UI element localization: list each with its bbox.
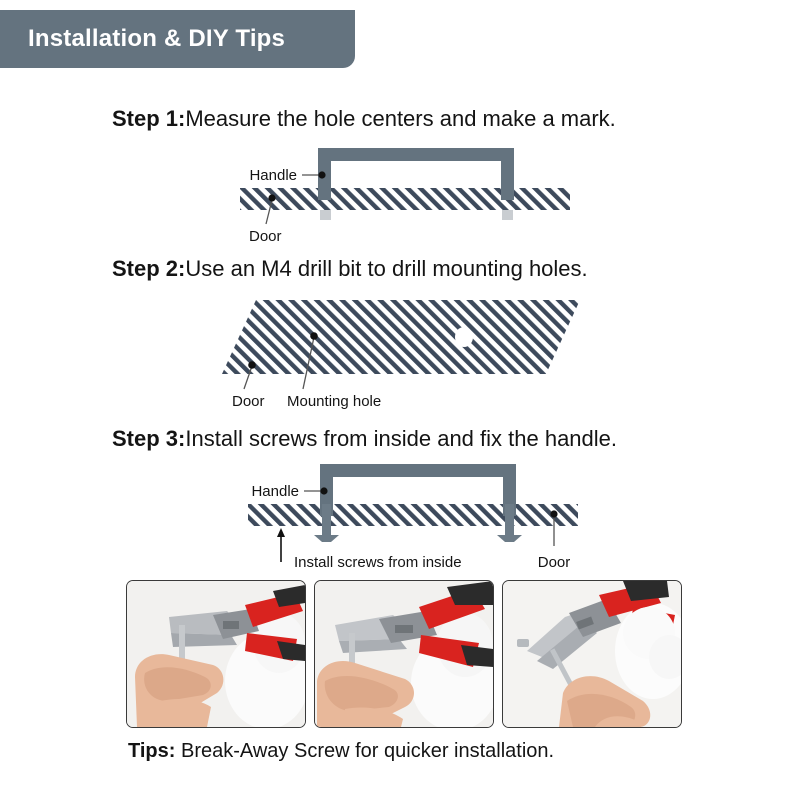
annotation-door: Door xyxy=(249,228,282,245)
step-1-text: Measure the hole centers and make a mark… xyxy=(185,106,615,131)
door-panel-3 xyxy=(248,504,578,526)
step-2-diagram: Mounting hole Door xyxy=(0,292,800,412)
handle-stubs xyxy=(320,210,513,220)
step-1-label: Step 1: xyxy=(112,106,185,131)
step-3-text: Install screws from inside and fix the h… xyxy=(185,426,617,451)
annotation-mounting-hole: Mounting hole xyxy=(287,393,381,410)
door-leader-line-3 xyxy=(550,510,557,546)
step-3-label: Step 3: xyxy=(112,426,185,451)
door-panel xyxy=(240,188,570,210)
photo-step-3[interactable] xyxy=(502,580,682,728)
step-2-heading: Step 2:Use an M4 drill bit to drill moun… xyxy=(112,256,588,282)
step-1-diagram: Handle Door xyxy=(0,140,800,250)
step-3-diagram: Handle Install screws from inside Door xyxy=(0,450,800,570)
tips-line: Tips: Break-Away Screw for quicker insta… xyxy=(128,740,554,763)
handle-leader-line xyxy=(302,171,326,178)
step-3-heading: Step 3:Install screws from inside and fi… xyxy=(112,426,617,452)
step-2-label: Step 2: xyxy=(112,256,185,281)
photo-strip xyxy=(126,580,682,728)
tips-text: Break-Away Screw for quicker installatio… xyxy=(175,740,554,762)
mounting-hole xyxy=(455,327,473,347)
photo-step-1[interactable] xyxy=(126,580,306,728)
step-2-text: Use an M4 drill bit to drill mounting ho… xyxy=(185,256,587,281)
door-panel-angled xyxy=(222,300,580,374)
annotation-handle: Handle xyxy=(249,167,297,184)
install-screws-arrow xyxy=(277,528,285,562)
annotation-install-screws: Install screws from inside xyxy=(294,554,462,570)
header-banner: Installation & DIY Tips xyxy=(0,10,355,68)
handle-leader-line-3 xyxy=(304,487,328,494)
step-1-heading: Step 1:Measure the hole centers and make… xyxy=(112,106,616,132)
annotation-handle-3: Handle xyxy=(251,483,299,500)
photo-step-2[interactable] xyxy=(314,580,494,728)
tips-label: Tips: xyxy=(128,740,175,762)
page-title: Installation & DIY Tips xyxy=(28,25,285,53)
annotation-door-3: Door xyxy=(538,554,571,570)
annotation-door-2: Door xyxy=(232,393,265,410)
